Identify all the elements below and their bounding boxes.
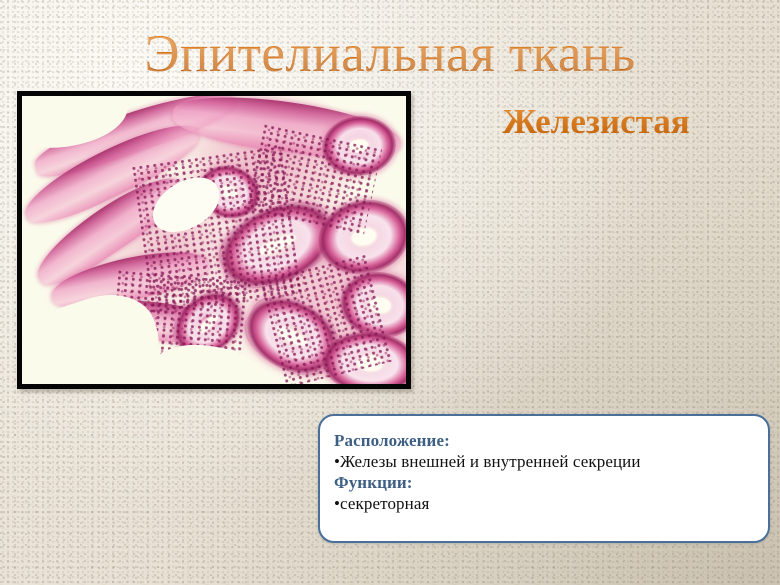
- slide: Эпителиальная ткань Железистая: [0, 0, 780, 585]
- info-heading-location: Расположение:: [334, 430, 768, 451]
- info-heading-functions: Функции:: [334, 472, 768, 493]
- info-item-location: •Железы внешней и внутренней секреции: [334, 451, 768, 472]
- micrograph-frame: [17, 91, 411, 389]
- page-subtitle: Железистая: [412, 104, 780, 139]
- info-callout-box: Расположение: •Железы внешней и внутренн…: [318, 414, 770, 543]
- info-item-functions: •секреторная: [334, 493, 768, 514]
- page-title: Эпителиальная ткань: [0, 28, 780, 81]
- glandular-epithelium-micrograph: [22, 96, 406, 384]
